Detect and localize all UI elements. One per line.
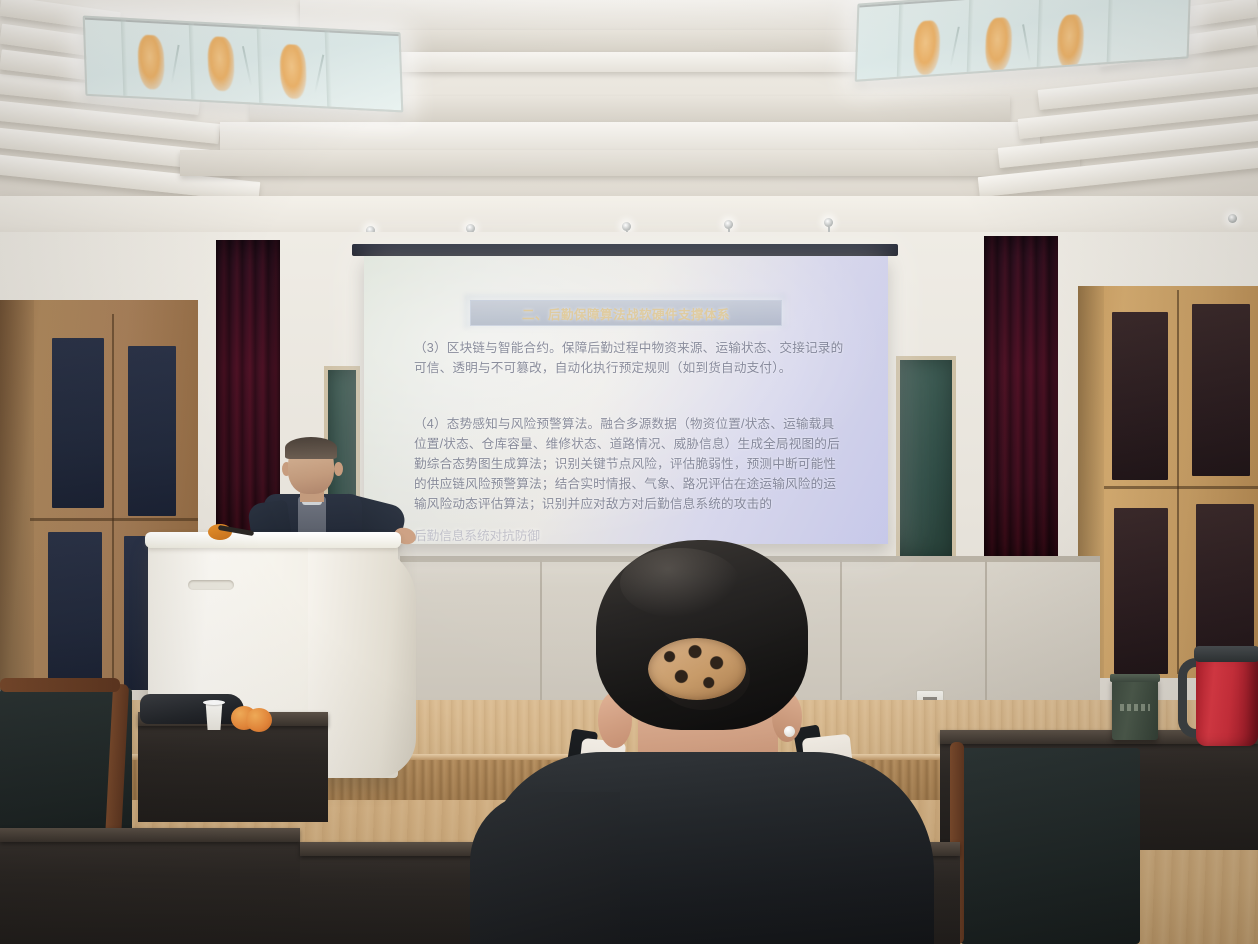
- orange: [246, 708, 272, 732]
- red-electric-kettle: [1186, 640, 1258, 750]
- slide-paragraph-4: （4）态势感知与风险预警算法。融合多源数据（物资位置/状态、运输载具位置/状态、…: [414, 414, 844, 514]
- slide-title: 二、后勤保障算法战软硬件支撑体系: [471, 301, 781, 325]
- foreground-audience-member: [470, 540, 940, 944]
- ceiling-light-panel-right: [855, 0, 1192, 82]
- spotlight-icon: [724, 220, 733, 229]
- ceiling-light-panel-left: [83, 16, 404, 113]
- spotlight-icon: [1228, 214, 1237, 223]
- slide-paragraph-3: （3）区块链与智能合约。保障后勤过程中物资来源、运输状态、交接记录的可信、透明与…: [414, 338, 844, 378]
- projection-screen: 二、后勤保障算法战软硬件支撑体系 （3）区块链与智能合约。保障后勤过程中物资来源…: [364, 256, 888, 544]
- spotlight-icon: [824, 218, 833, 227]
- left-desk: [138, 712, 328, 822]
- lecture-hall-scene: 二、后勤保障算法战软硬件支撑体系 （3）区块链与智能合约。保障后勤过程中物资来源…: [0, 0, 1258, 944]
- green-tea-tin: [1112, 678, 1158, 740]
- leopard-scrunchie: [648, 638, 746, 700]
- slide-title-box: 二、后勤保障算法战软硬件支撑体系: [470, 300, 782, 326]
- audience-chair-right: [960, 748, 1140, 944]
- earring: [784, 726, 795, 737]
- spotlight-icon: [622, 222, 631, 231]
- lower-left-desk: [0, 828, 300, 944]
- black-bag: [140, 694, 244, 724]
- wooden-cabinet-right: [1078, 286, 1258, 678]
- stage-curtain-right: [984, 236, 1058, 566]
- blackboard-right: [896, 356, 956, 564]
- projector-screen-housing: [352, 244, 898, 256]
